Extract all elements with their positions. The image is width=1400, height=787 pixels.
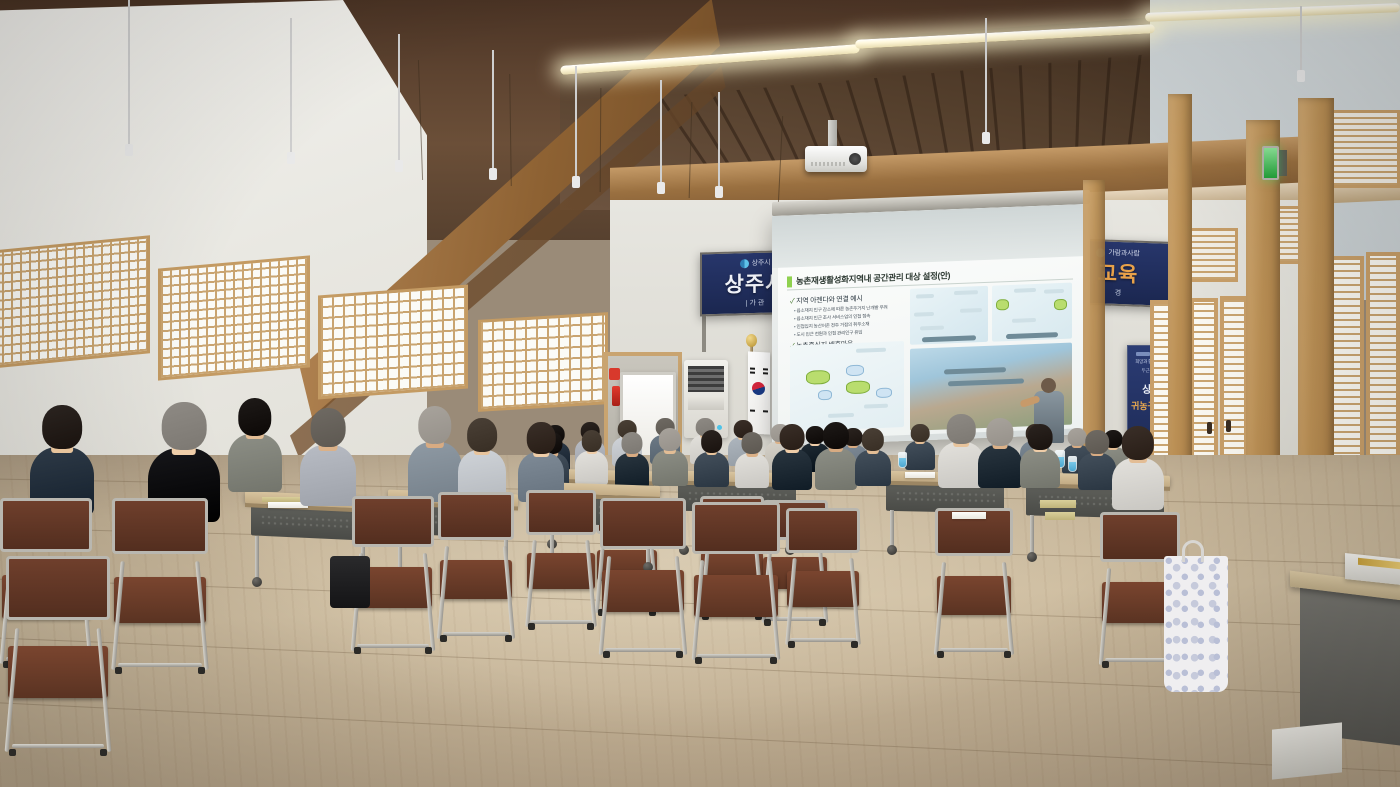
chair-back xyxy=(600,498,686,549)
rollup-logo-icon xyxy=(1136,352,1150,356)
audience-head xyxy=(418,406,451,444)
slide-map-diagram-a xyxy=(910,286,988,345)
audience-member xyxy=(694,430,729,487)
aircon-panel xyxy=(688,396,724,410)
patterned-tote-bag xyxy=(1164,556,1228,692)
audience-head xyxy=(1028,424,1053,450)
trigram xyxy=(763,410,768,412)
trigram xyxy=(763,368,768,370)
cup-liquid xyxy=(899,458,906,467)
window-lattice xyxy=(161,259,307,378)
drink-cup xyxy=(1068,456,1077,472)
chair-back xyxy=(6,556,110,620)
audience-head xyxy=(621,432,642,454)
rod-hook xyxy=(1297,70,1305,82)
network-node xyxy=(876,387,892,398)
chair-crossbar xyxy=(697,654,774,658)
window-lattice xyxy=(0,239,147,366)
folding-chair[interactable] xyxy=(112,498,208,674)
audience-head xyxy=(467,418,497,452)
audience-head xyxy=(659,428,681,451)
audience-head xyxy=(162,402,207,450)
audience-member xyxy=(815,422,857,490)
chair-seat xyxy=(527,553,594,589)
table-leg xyxy=(1030,515,1034,555)
network-node xyxy=(818,390,832,401)
chair-crossbar xyxy=(940,648,1009,652)
projector-lens xyxy=(849,153,861,165)
audience-head xyxy=(986,418,1013,446)
chair-foot xyxy=(603,651,610,658)
audience-torso xyxy=(1112,458,1164,510)
chair-foot xyxy=(425,647,432,654)
transom-lattice xyxy=(1333,113,1397,185)
chair-crossbar xyxy=(530,620,592,624)
chair-crossbar xyxy=(790,638,855,642)
handout-paper xyxy=(905,472,935,478)
rod-hook xyxy=(287,152,295,164)
tote-handle xyxy=(1182,540,1204,562)
chair-back xyxy=(692,502,780,554)
audience-member xyxy=(228,398,282,492)
light-hanger-rod xyxy=(290,18,292,158)
chair-crossbar xyxy=(118,663,202,667)
audience-torso xyxy=(735,453,769,488)
transom-3 xyxy=(1330,110,1400,188)
audience-head xyxy=(741,432,762,454)
audience-head xyxy=(1085,430,1109,454)
table-caster xyxy=(887,545,897,555)
table-leg xyxy=(890,510,894,548)
light-hanger-rod xyxy=(718,92,720,192)
audience-torso xyxy=(615,453,649,488)
audience-head xyxy=(1122,426,1154,460)
chair-foot xyxy=(354,647,361,654)
trigram xyxy=(763,372,768,374)
chair-foot xyxy=(695,657,702,664)
audience-head xyxy=(527,422,556,454)
audience-torso xyxy=(772,449,812,490)
light-hanger-rod xyxy=(575,66,577,182)
audience-torso xyxy=(694,452,729,487)
audience-torso xyxy=(815,448,857,490)
chair-foot xyxy=(851,641,858,648)
rod-hook xyxy=(125,144,133,156)
audience-member xyxy=(652,428,688,486)
light-hanger-rod xyxy=(1300,6,1302,76)
chair-back xyxy=(0,498,92,552)
chair-back xyxy=(438,492,514,540)
chair-back xyxy=(1100,512,1180,562)
document-folder xyxy=(1040,500,1076,508)
audience-member xyxy=(978,418,1022,488)
chair-crossbar xyxy=(12,744,104,748)
fire-extinguisher xyxy=(612,386,620,406)
network-node xyxy=(846,380,870,394)
fire-alarm-box xyxy=(609,368,620,380)
chair-back xyxy=(526,490,596,535)
photo-caption-1 xyxy=(944,367,1006,374)
chair-seat xyxy=(694,575,778,617)
light-hanger-rod xyxy=(398,34,400,166)
exit-sign xyxy=(1262,146,1279,180)
chair-foot xyxy=(440,635,447,642)
chair-seat xyxy=(114,577,206,623)
flag-finial xyxy=(746,334,757,347)
chair-seat xyxy=(602,570,685,612)
light-hanger-rod xyxy=(492,50,494,174)
audience-torso xyxy=(575,451,608,485)
audience-torso xyxy=(1078,453,1116,490)
hanok-window-1 xyxy=(0,235,150,368)
ceiling-projector xyxy=(805,146,867,172)
light-hanger-rod xyxy=(985,18,987,138)
floor-cardboard-box xyxy=(1272,722,1342,779)
handbag xyxy=(330,556,370,608)
projector-vent xyxy=(811,162,845,166)
chair-foot xyxy=(100,749,107,756)
audience-head xyxy=(238,398,271,436)
seminar-room-photo: 상주시 상주시 | 가 관 가람과사람 교육 경 농촌재생활성화지역내 공간관리… xyxy=(0,0,1400,787)
chair-foot xyxy=(937,651,944,658)
table-caster xyxy=(1027,552,1037,562)
audience-member xyxy=(1078,430,1116,490)
audience-member xyxy=(458,418,506,502)
chair-foot xyxy=(115,667,122,674)
cup-liquid xyxy=(1069,462,1076,471)
chair-back xyxy=(352,496,434,547)
audience-torso xyxy=(905,441,935,470)
trigram xyxy=(750,368,755,370)
slide-map-diagram-b xyxy=(992,283,1072,342)
table-caster xyxy=(252,577,262,587)
audience-member xyxy=(575,430,608,485)
audience-head xyxy=(947,414,976,444)
chair-back xyxy=(112,498,208,554)
chair-foot xyxy=(587,623,594,630)
audience-head xyxy=(823,422,849,449)
audience-member xyxy=(772,424,812,490)
chair-crossbar xyxy=(443,632,510,636)
chair-seat xyxy=(440,560,513,599)
audience-member xyxy=(905,424,935,470)
banner-pole-left xyxy=(702,312,706,352)
chair-seat xyxy=(937,576,1012,615)
chair-foot xyxy=(198,667,205,674)
folding-chair[interactable] xyxy=(438,492,514,642)
light-hanger-rod xyxy=(128,0,130,150)
aircon-grille xyxy=(688,366,724,392)
audience-head xyxy=(862,428,884,451)
taeguk-symbol xyxy=(752,382,765,396)
rod-hook xyxy=(657,182,665,194)
exit-sign-bracket xyxy=(1278,150,1287,176)
audience-member xyxy=(1112,426,1164,510)
map-a-caption xyxy=(922,335,976,342)
audience-torso xyxy=(228,434,282,492)
transom-lattice xyxy=(1189,231,1235,279)
audience-member xyxy=(855,428,891,486)
chair-foot xyxy=(770,657,777,664)
audience-head xyxy=(701,430,723,453)
audience-torso xyxy=(978,445,1022,488)
window-lattice xyxy=(321,288,465,397)
rod-hook xyxy=(715,186,723,198)
audience-torso xyxy=(855,450,891,486)
audience-head xyxy=(42,405,82,449)
banner-subline: | 가 관 xyxy=(746,298,765,308)
trigram xyxy=(750,410,755,412)
chair-crossbar xyxy=(357,644,429,648)
door-handle[interactable] xyxy=(1226,420,1231,432)
audience-torso xyxy=(1020,448,1060,488)
projector-mount xyxy=(828,120,837,148)
chair-back xyxy=(786,508,860,553)
audience-torso xyxy=(652,450,688,486)
chair-seat xyxy=(8,646,108,698)
banner-subline: 경 xyxy=(1115,288,1121,298)
rod-hook xyxy=(982,132,990,144)
audience-member xyxy=(300,408,356,506)
transom-1 xyxy=(1186,228,1238,282)
chair-foot xyxy=(528,623,535,630)
folding-chair[interactable] xyxy=(526,490,596,630)
chair-foot xyxy=(1004,651,1011,658)
hanok-window-3 xyxy=(318,284,468,399)
banner-org-name: 상주시 xyxy=(752,258,771,268)
document-folder xyxy=(1045,512,1075,520)
photo-caption-2 xyxy=(948,378,1024,386)
chair-foot xyxy=(505,635,512,642)
folding-chair[interactable] xyxy=(935,508,1013,658)
folding-chair[interactable] xyxy=(6,556,110,756)
slide-network-diagram xyxy=(790,341,904,431)
sangju-city-logo-icon xyxy=(740,259,749,268)
rod-hook xyxy=(572,176,580,188)
chair-foot xyxy=(9,749,16,756)
door-handle[interactable] xyxy=(1207,422,1212,434)
audience-member xyxy=(1020,424,1060,488)
rod-hook xyxy=(489,168,497,180)
hanok-window-2 xyxy=(158,255,310,380)
chair-foot xyxy=(1102,661,1109,668)
chair-crossbar xyxy=(605,648,681,652)
audience-member xyxy=(408,406,462,502)
handout-paper xyxy=(952,512,986,519)
audience-head xyxy=(581,430,601,452)
network-node xyxy=(846,365,864,377)
folding-chair[interactable] xyxy=(786,508,860,648)
folding-chair[interactable] xyxy=(692,502,780,664)
chair-foot xyxy=(788,641,795,648)
audience-head xyxy=(311,408,346,447)
table-leg xyxy=(255,536,259,580)
audience-head xyxy=(780,424,805,450)
light-hanger-rod xyxy=(660,80,662,188)
network-node xyxy=(806,370,830,385)
map-b-caption xyxy=(1006,332,1058,339)
reception-desk-panel xyxy=(1300,583,1400,747)
folding-chair[interactable] xyxy=(600,498,686,658)
audience-torso xyxy=(300,445,356,506)
chair-foot xyxy=(676,651,683,658)
chair-seat xyxy=(787,571,858,607)
audience-member xyxy=(735,432,769,488)
slide-title-marker xyxy=(787,276,792,287)
presenter-head xyxy=(1041,378,1056,393)
drink-cup xyxy=(898,452,907,468)
audience-head xyxy=(911,424,930,442)
rod-hook xyxy=(395,160,403,172)
window-lattice xyxy=(481,315,605,408)
trigram xyxy=(750,372,755,374)
audience-member xyxy=(615,432,649,488)
hanok-window-4 xyxy=(478,312,608,412)
